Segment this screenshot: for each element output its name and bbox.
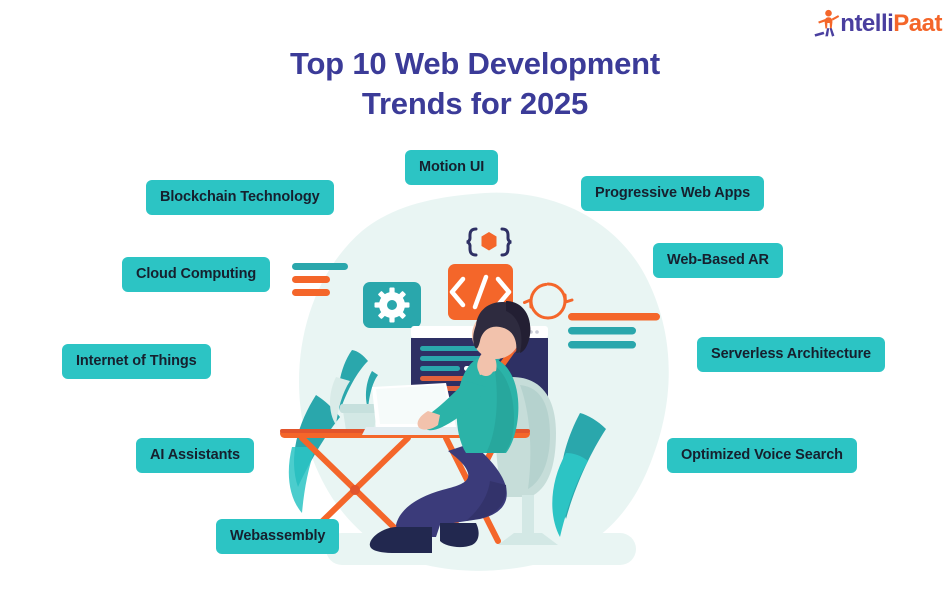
- logo-text-secondary: Paat: [893, 10, 942, 37]
- gear-card: [363, 282, 421, 328]
- trend-pill-optimized-voice-search[interactable]: Optimized Voice Search: [667, 438, 857, 473]
- trend-pill-ai-assistants[interactable]: AI Assistants: [136, 438, 254, 473]
- trend-pill-webassembly[interactable]: Webassembly: [216, 519, 339, 554]
- trend-pill-cloud-computing[interactable]: Cloud Computing: [122, 257, 270, 292]
- trend-pill-serverless-architecture[interactable]: Serverless Architecture: [697, 337, 885, 372]
- person-figure-icon: [814, 9, 840, 39]
- logo-text-primary: ntelli: [840, 10, 893, 37]
- trend-pill-internet-of-things[interactable]: Internet of Things: [62, 344, 211, 379]
- infographic-canvas: ntelliPaat Top 10 Web Development Trends…: [0, 0, 950, 600]
- trend-pill-motion-ui[interactable]: Motion UI: [405, 150, 498, 185]
- title-line-1: Top 10 Web Development: [0, 44, 950, 84]
- page-title: Top 10 Web Development Trends for 2025: [0, 44, 950, 123]
- trend-pill-progressive-web-apps[interactable]: Progressive Web Apps: [581, 176, 764, 211]
- trend-pill-web-based-ar[interactable]: Web-Based AR: [653, 243, 783, 278]
- developer-at-desk-illustration: [280, 185, 700, 585]
- intellipaat-logo[interactable]: ntelliPaat: [814, 6, 942, 42]
- gear-icon: [375, 288, 410, 323]
- trend-pill-blockchain-technology[interactable]: Blockchain Technology: [146, 180, 334, 215]
- title-line-2: Trends for 2025: [0, 84, 950, 124]
- logo-wordmark: ntelliPaat: [840, 12, 942, 36]
